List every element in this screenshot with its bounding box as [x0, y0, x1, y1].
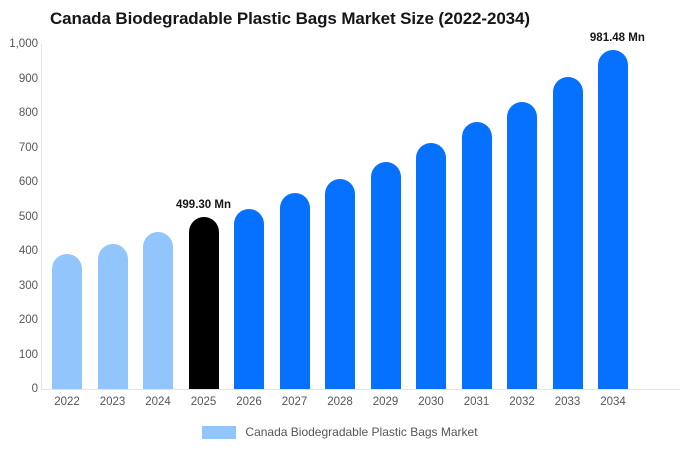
bar-value-label-2034: 981.48 Mn — [590, 32, 645, 44]
bar-2031[interactable] — [462, 122, 492, 389]
x-axis-tick-label-2025: 2025 — [191, 396, 217, 408]
chart-title: Canada Biodegradable Plastic Bags Market… — [50, 9, 530, 29]
x-axis-tick-label-2027: 2027 — [282, 396, 308, 408]
y-axis: 01002003004005006007008009001,000 — [0, 0, 38, 450]
bar-2030[interactable] — [416, 143, 446, 389]
x-axis-tick-label-2032: 2032 — [509, 396, 535, 408]
y-axis-tick-label: 200 — [2, 314, 38, 326]
bar-chart: Canada Biodegradable Plastic Bags Market… — [0, 0, 680, 450]
y-axis-tick-label: 800 — [2, 107, 38, 119]
x-axis-tick-label-2022: 2022 — [54, 396, 80, 408]
chart-legend: Canada Biodegradable Plastic Bags Market — [0, 425, 680, 439]
bar-2027[interactable] — [280, 193, 310, 389]
x-axis-tick-label-2028: 2028 — [327, 396, 353, 408]
y-axis-tick-label: 300 — [2, 280, 38, 292]
y-axis-tick-label: 1,000 — [2, 38, 38, 50]
x-axis-tick-label-2026: 2026 — [236, 396, 262, 408]
y-axis-tick-label: 0 — [2, 383, 38, 395]
bar-2032[interactable] — [507, 102, 537, 389]
y-axis-tick-label: 500 — [2, 211, 38, 223]
bar-2029[interactable] — [371, 162, 401, 389]
x-axis-tick-label-2024: 2024 — [145, 396, 171, 408]
x-axis-tick-label-2033: 2033 — [555, 396, 581, 408]
x-axis-tick-label-2034: 2034 — [600, 396, 626, 408]
legend-item[interactable]: Canada Biodegradable Plastic Bags Market — [202, 425, 477, 439]
x-axis-tick-label-2023: 2023 — [100, 396, 126, 408]
y-axis-tick-label: 900 — [2, 73, 38, 85]
bar-2023[interactable] — [98, 244, 128, 389]
legend-swatch-icon — [202, 426, 236, 439]
y-axis-tick-label: 100 — [2, 349, 38, 361]
y-axis-tick-label: 700 — [2, 142, 38, 154]
bar-2025[interactable] — [189, 217, 219, 389]
x-axis-tick-label-2030: 2030 — [418, 396, 444, 408]
bar-2024[interactable] — [143, 232, 173, 389]
bar-2028[interactable] — [325, 179, 355, 389]
bar-2033[interactable] — [553, 77, 583, 389]
x-axis-line — [41, 389, 680, 390]
x-axis-tick-label-2031: 2031 — [464, 396, 490, 408]
bar-2026[interactable] — [234, 209, 264, 389]
legend-label: Canada Biodegradable Plastic Bags Market — [245, 425, 477, 439]
x-axis-tick-label-2029: 2029 — [373, 396, 399, 408]
bar-2022[interactable] — [52, 254, 82, 389]
plot-area: 499.30 Mn981.48 Mn — [41, 44, 680, 389]
y-axis-tick-label: 400 — [2, 245, 38, 257]
y-axis-tick-label: 600 — [2, 176, 38, 188]
bar-value-label-2025: 499.30 Mn — [176, 199, 231, 211]
bar-2034[interactable] — [598, 50, 628, 389]
